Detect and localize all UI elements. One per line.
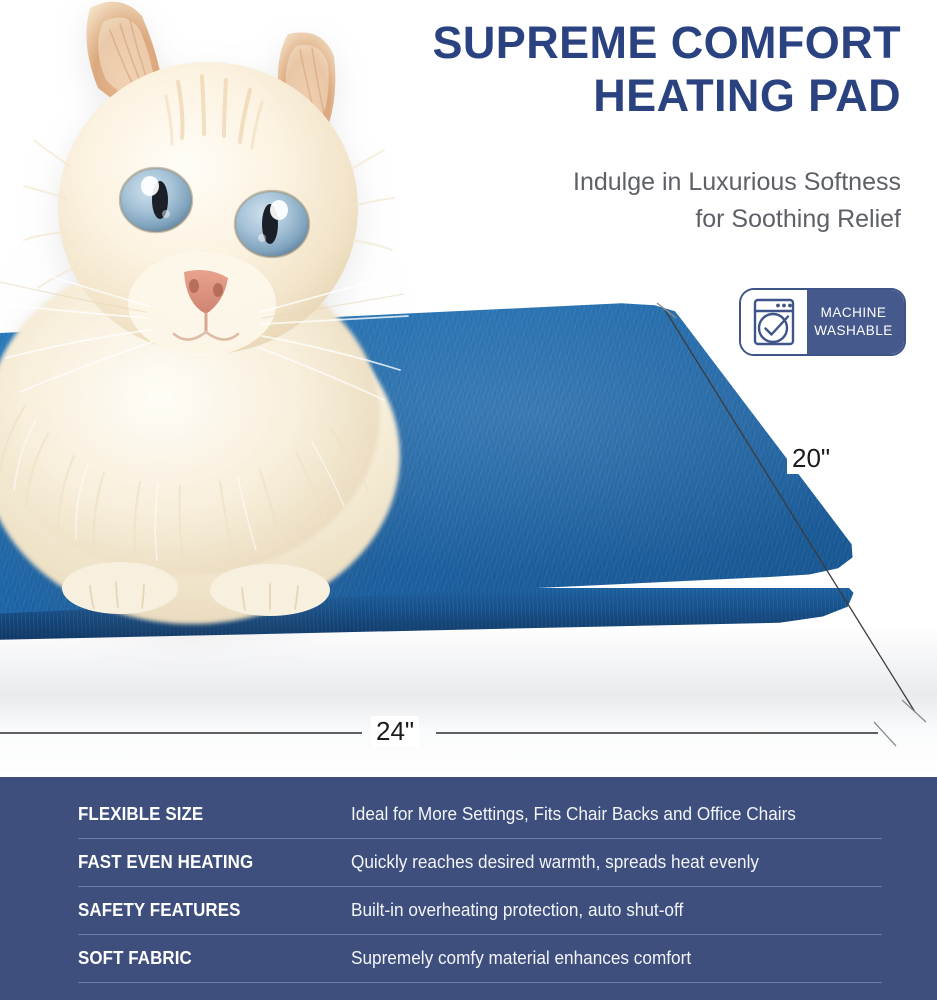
washing-machine-check-icon xyxy=(741,290,807,354)
headline-line-2: HEATING PAD xyxy=(341,69,901,122)
badge-line-2: WASHABLE xyxy=(814,324,893,339)
subhead-line-2: for Soothing Relief xyxy=(341,201,901,238)
table-row: FLEXIBLE SIZE Ideal for More Settings, F… xyxy=(78,791,882,839)
product-infographic: 20" 24" SUPREME COMFORT HEATING PAD Indu… xyxy=(0,0,937,1000)
table-row: SOFT FABRIC Supremely comfy material enh… xyxy=(78,935,882,983)
badge-line-1: MACHINE xyxy=(821,306,887,321)
page-title: SUPREME COMFORT HEATING PAD xyxy=(341,16,901,122)
feature-description: Supremely comfy material enhances comfor… xyxy=(351,948,858,969)
subhead-line-1: Indulge in Luxurious Softness xyxy=(341,164,901,201)
feature-description: Ideal for More Settings, Fits Chair Back… xyxy=(351,804,858,825)
feature-label: FAST EVEN HEATING xyxy=(78,852,335,873)
feature-list-panel: FLEXIBLE SIZE Ideal for More Settings, F… xyxy=(0,777,937,1000)
feature-label: SAFETY FEATURES xyxy=(78,900,335,921)
feature-label: SOFT FABRIC xyxy=(78,948,335,969)
page-subtitle: Indulge in Luxurious Softness for Soothi… xyxy=(341,164,901,238)
hero-photo-area: 20" 24" SUPREME COMFORT HEATING PAD Indu… xyxy=(0,0,937,777)
table-row: FAST EVEN HEATING Quickly reaches desire… xyxy=(78,839,882,887)
feature-description: Quickly reaches desired warmth, spreads … xyxy=(351,852,858,873)
feature-description: Built-in overheating protection, auto sh… xyxy=(351,900,858,921)
machine-washable-label: MACHINE WASHABLE xyxy=(807,290,904,354)
machine-washable-badge: MACHINE WASHABLE xyxy=(739,288,906,356)
headline-line-1: SUPREME COMFORT xyxy=(341,16,901,69)
table-row: SAFETY FEATURES Built-in overheating pro… xyxy=(78,887,882,935)
feature-label: FLEXIBLE SIZE xyxy=(78,804,335,825)
